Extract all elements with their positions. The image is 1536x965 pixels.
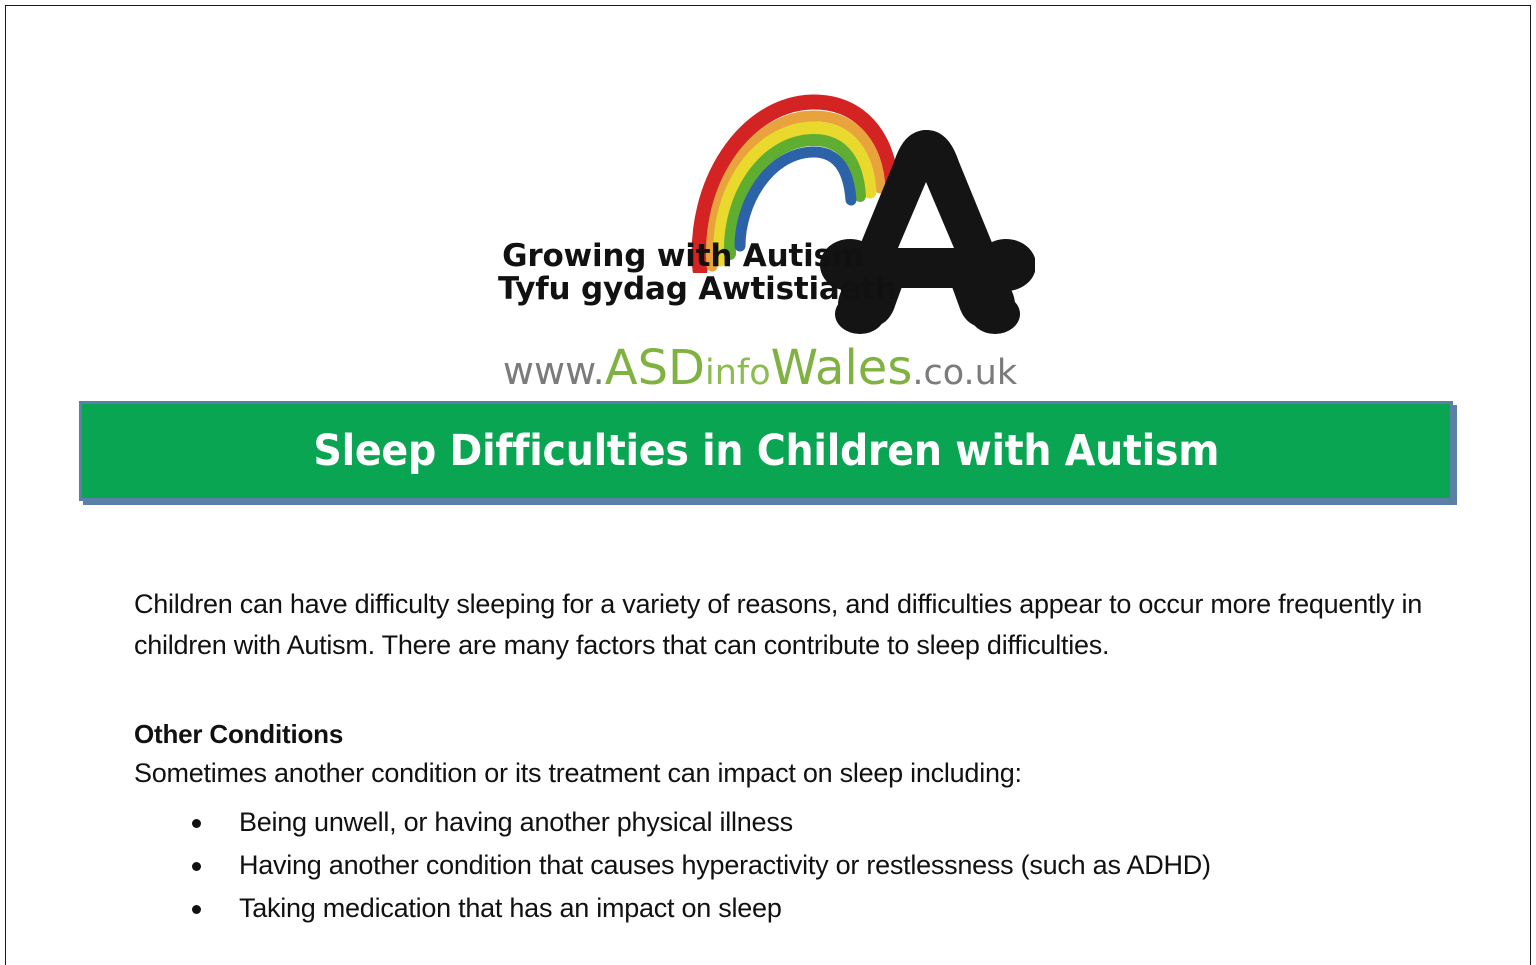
list-item-label: Being unwell, or having another physical…	[239, 807, 793, 837]
url-www: www.	[503, 349, 605, 393]
list-item-label: Taking medication that has an impact on …	[239, 893, 782, 923]
list-item: Being unwell, or having another physical…	[134, 801, 1424, 844]
url-asd: ASD	[605, 340, 705, 396]
document-body: Children can have difficulty sleeping fo…	[134, 584, 1424, 930]
page-title: Sleep Difficulties in Children with Auti…	[313, 426, 1219, 476]
other-conditions-list: Being unwell, or having another physical…	[134, 801, 1424, 930]
bullet-dot-icon	[192, 905, 201, 914]
list-item-label: Having another condition that causes hyp…	[239, 850, 1211, 880]
title-banner: Sleep Difficulties in Children with Auti…	[79, 401, 1453, 501]
section-heading-other-conditions: Other Conditions	[134, 719, 1424, 750]
logo-mark: Growing with Autism Tyfu gydag Awtistiae…	[490, 86, 1030, 326]
tagline-welsh: Tyfu gydag Awtistiaeth	[498, 273, 868, 306]
asdinfowales-logo: Growing with Autism Tyfu gydag Awtistiae…	[490, 86, 1030, 401]
list-item: Taking medication that has an impact on …	[134, 887, 1424, 930]
document-page: Growing with Autism Tyfu gydag Awtistiae…	[5, 5, 1531, 965]
url-info: info	[705, 353, 771, 393]
bullet-dot-icon	[192, 862, 201, 871]
url-tld: .co.uk	[912, 353, 1017, 393]
title-banner-wrapper: Sleep Difficulties in Children with Auti…	[79, 401, 1457, 506]
website-url[interactable]: www.ASDinfoWales.co.uk	[490, 344, 1030, 392]
section-lead-paragraph: Sometimes another condition or its treat…	[134, 753, 1424, 793]
bullet-dot-icon	[192, 819, 201, 828]
list-item: Having another condition that causes hyp…	[134, 844, 1424, 887]
logo-tagline: Growing with Autism Tyfu gydag Awtistiae…	[498, 240, 868, 306]
intro-paragraph: Children can have difficulty sleeping fo…	[134, 584, 1424, 666]
tagline-english: Growing with Autism	[498, 240, 868, 273]
url-wales: Wales	[771, 340, 913, 396]
